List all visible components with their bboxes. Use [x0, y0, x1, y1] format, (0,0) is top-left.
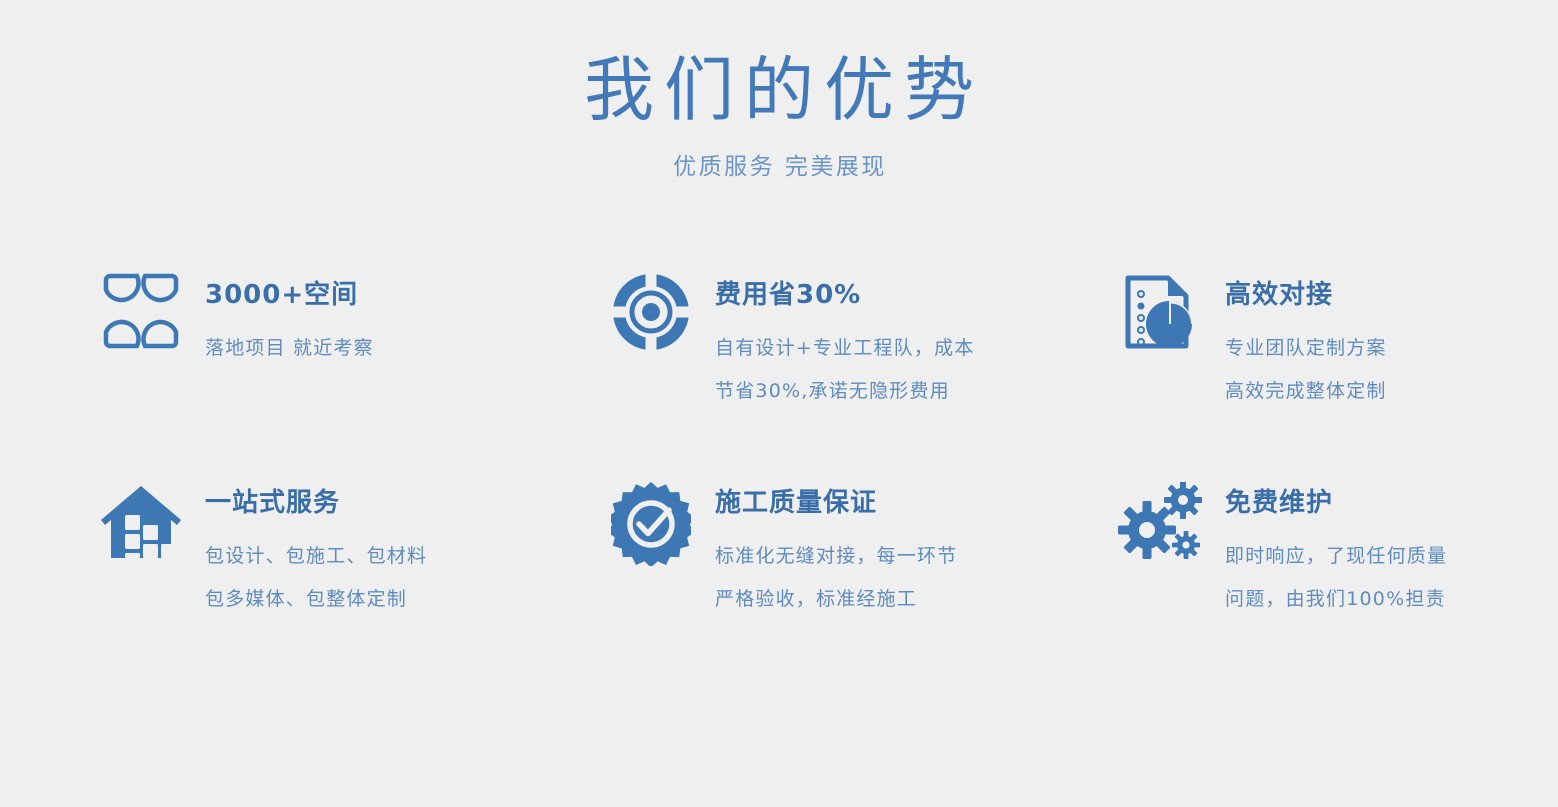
desc-line: 包多媒体、包整体定制	[205, 578, 427, 621]
feature-body: 一站式服务 包设计、包施工、包材料 包多媒体、包整体定制	[187, 476, 427, 621]
feature-description: 落地项目 就近考察	[205, 327, 374, 370]
feature-title: 3000+空间	[205, 280, 374, 311]
feature-body: 免费维护 即时响应，了现任何质量 问题，由我们100%担责	[1207, 476, 1447, 621]
feature-item-space: 3000+空间 落地项目 就近考察	[95, 268, 605, 476]
feature-body: 高效对接 专业团队定制方案 高效完成整体定制	[1207, 268, 1387, 413]
desc-line: 包设计、包施工、包材料	[205, 535, 427, 578]
desc-line: 标准化无缝对接，每一环节	[715, 535, 957, 578]
four-petals-icon	[95, 268, 187, 360]
feature-body: 费用省30% 自有设计+专业工程队，成本 节省30%,承诺无隐形费用	[697, 268, 975, 413]
gears-icon	[1115, 476, 1207, 568]
feature-title: 费用省30%	[715, 280, 975, 311]
desc-line: 问题，由我们100%担责	[1225, 578, 1447, 621]
desc-line: 落地项目 就近考察	[205, 327, 374, 370]
desc-line: 专业团队定制方案	[1225, 327, 1387, 370]
feature-item-efficient-docking: 高效对接 专业团队定制方案 高效完成整体定制	[1115, 268, 1495, 476]
house-icon	[95, 476, 187, 568]
desc-line: 自有设计+专业工程队，成本	[715, 327, 975, 370]
feature-body: 3000+空间 落地项目 就近考察	[187, 268, 374, 370]
target-icon	[605, 268, 697, 360]
desc-line: 高效完成整体定制	[1225, 370, 1387, 413]
feature-description: 标准化无缝对接，每一环节 严格验收，标准经施工	[715, 535, 957, 621]
feature-description: 即时响应，了现任何质量 问题，由我们100%担责	[1225, 535, 1447, 621]
feature-title: 免费维护	[1225, 488, 1447, 519]
document-pie-chart-icon	[1115, 268, 1207, 360]
feature-title: 施工质量保证	[715, 488, 957, 519]
feature-item-quality-guarantee: 施工质量保证 标准化无缝对接，每一环节 严格验收，标准经施工	[605, 476, 1115, 621]
page-title: 我们的优势	[0, 52, 1558, 129]
feature-item-cost-saving: 费用省30% 自有设计+专业工程队，成本 节省30%,承诺无隐形费用	[605, 268, 1115, 476]
desc-line: 节省30%,承诺无隐形费用	[715, 370, 975, 413]
feature-item-free-maintenance: 免费维护 即时响应，了现任何质量 问题，由我们100%担责	[1115, 476, 1495, 621]
feature-description: 自有设计+专业工程队，成本 节省30%,承诺无隐形费用	[715, 327, 975, 413]
feature-item-one-stop-service: 一站式服务 包设计、包施工、包材料 包多媒体、包整体定制	[95, 476, 605, 621]
desc-line: 即时响应，了现任何质量	[1225, 535, 1447, 578]
feature-title: 一站式服务	[205, 488, 427, 519]
page-header: 我们的优势 优质服务 完美展现	[0, 52, 1558, 181]
feature-description: 专业团队定制方案 高效完成整体定制	[1225, 327, 1387, 413]
feature-description: 包设计、包施工、包材料 包多媒体、包整体定制	[205, 535, 427, 621]
feature-body: 施工质量保证 标准化无缝对接，每一环节 严格验收，标准经施工	[697, 476, 957, 621]
page-subtitle: 优质服务 完美展现	[0, 147, 1558, 181]
badge-check-icon	[605, 476, 697, 568]
advantages-page: 我们的优势 优质服务 完美展现 3000+空间 落地项目 就近考察	[0, 0, 1558, 807]
feature-title: 高效对接	[1225, 280, 1387, 311]
desc-line: 严格验收，标准经施工	[715, 578, 957, 621]
features-grid: 3000+空间 落地项目 就近考察	[95, 268, 1495, 621]
